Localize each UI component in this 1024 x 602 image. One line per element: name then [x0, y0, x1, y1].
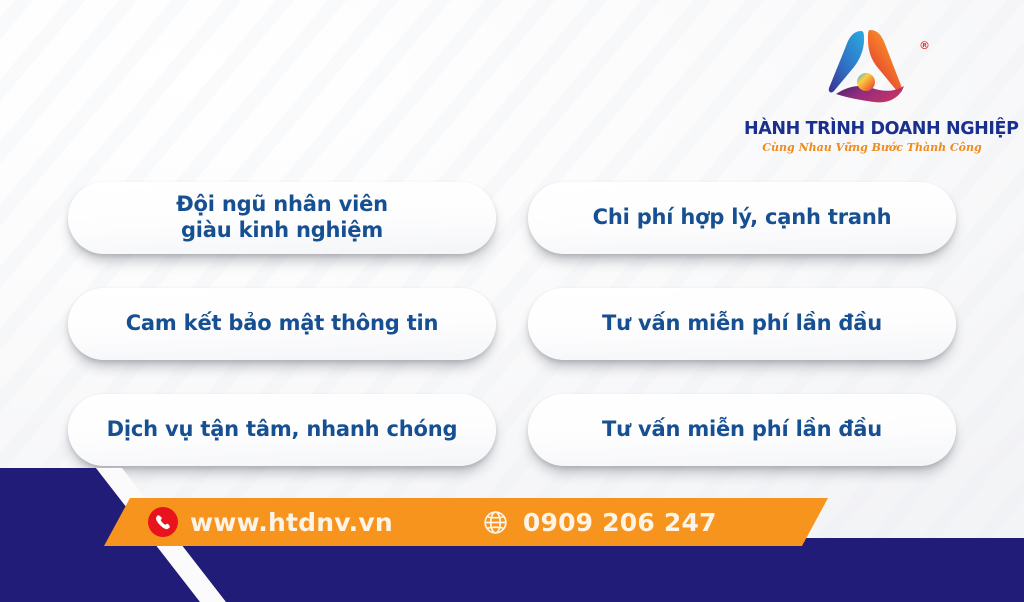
registered-mark-icon: ®: [919, 40, 930, 51]
benefit-label: Tư vấn miễn phí lần đầu: [602, 311, 882, 337]
logo-company-name: HÀNH TRÌNH DOANH NGHIỆP VIỆT: [744, 120, 1000, 138]
benefit-label: Chi phí hợp lý, cạnh tranh: [593, 205, 892, 231]
logo-emblem-icon: ®: [808, 22, 936, 118]
benefit-pill[interactable]: Cam kết bảo mật thông tin: [68, 288, 496, 360]
benefits-grid: Đội ngũ nhân viên giàu kinh nghiệm Chi p…: [68, 182, 956, 462]
footer-contact-bar: www.htdnv.vn 0909 206 247: [0, 482, 1024, 602]
benefit-pill[interactable]: Đội ngũ nhân viên giàu kinh nghiệm: [68, 182, 496, 254]
benefit-pill[interactable]: Tư vấn miễn phí lần đầu: [528, 288, 956, 360]
logo-tagline: Cùng Nhau Vững Bước Thành Công: [744, 141, 1000, 154]
benefit-pill[interactable]: Chi phí hợp lý, cạnh tranh: [528, 182, 956, 254]
poster-canvas: ® HÀNH TRÌNH DOANH NGHIỆP VIỆT Cùng Nhau…: [0, 0, 1024, 602]
phone-text: 0909 206 247: [523, 510, 717, 535]
footer-website[interactable]: www.htdnv.vn: [148, 507, 393, 537]
benefit-label: Tư vấn miễn phí lần đầu: [602, 417, 882, 443]
footer-phone[interactable]: 0909 206 247: [481, 507, 717, 537]
phone-icon: [148, 507, 178, 537]
benefit-label: Cam kết bảo mật thông tin: [126, 311, 439, 337]
benefit-label: Đội ngũ nhân viên giàu kinh nghiệm: [176, 192, 388, 243]
benefit-pill[interactable]: Dịch vụ tận tâm, nhanh chóng: [68, 394, 496, 466]
footer-orange-band: www.htdnv.vn 0909 206 247: [104, 498, 828, 546]
website-text: www.htdnv.vn: [190, 510, 393, 535]
globe-icon: [481, 507, 511, 537]
benefit-pill[interactable]: Tư vấn miễn phí lần đầu: [528, 394, 956, 466]
benefit-label: Dịch vụ tận tâm, nhanh chóng: [107, 417, 458, 443]
brand-logo: ® HÀNH TRÌNH DOANH NGHIỆP VIỆT Cùng Nhau…: [744, 22, 1000, 162]
